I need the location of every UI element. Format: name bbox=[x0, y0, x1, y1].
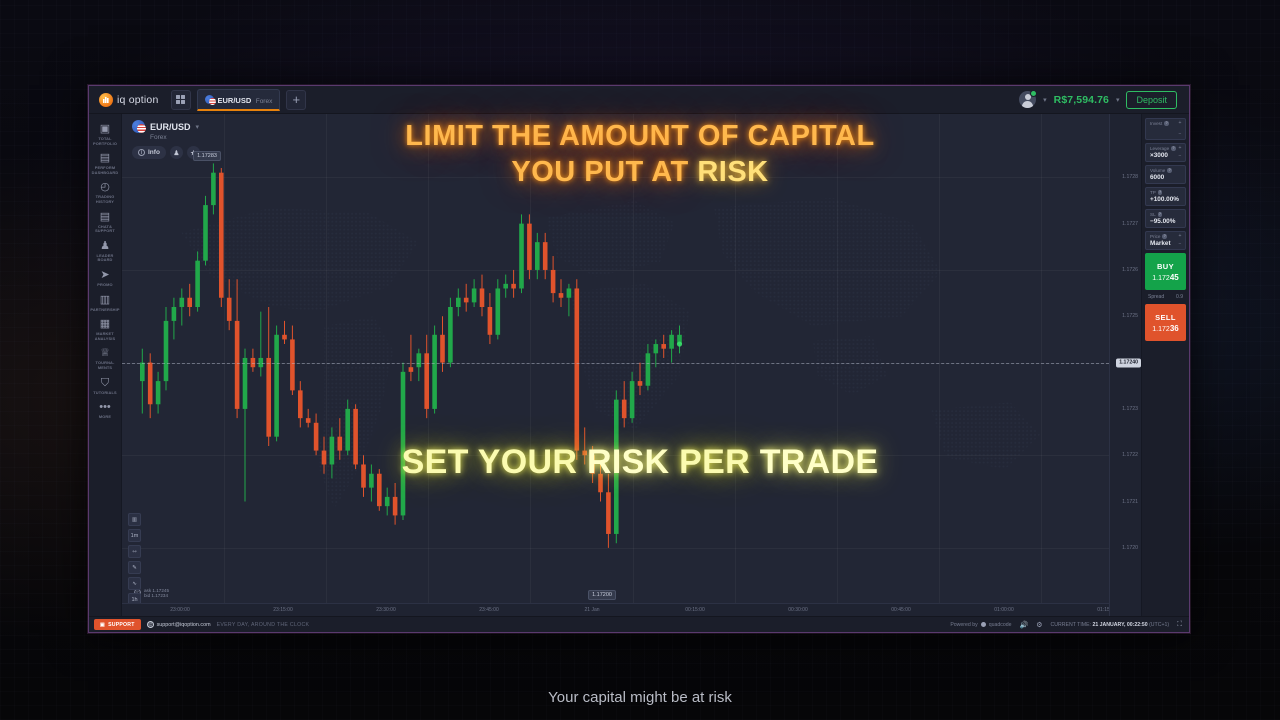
balance-amount[interactable]: R$7,594.76 bbox=[1054, 94, 1109, 106]
promo-icon: ➤ bbox=[100, 270, 109, 282]
sl-value: −95.00% bbox=[1150, 218, 1181, 225]
sidebar-item-label: PARTNERSHIP bbox=[90, 308, 121, 313]
sl-label: SL bbox=[1150, 212, 1156, 217]
avatar-chevron-down-icon[interactable]: ▾ bbox=[1043, 96, 1047, 104]
time-tick: 00:15:00 bbox=[685, 607, 704, 613]
low-price-label: 1.17200 bbox=[588, 590, 616, 600]
sidebar-item-9[interactable]: ⛉TUTORIALS bbox=[89, 374, 122, 399]
sidebar-item-label: LEADERBOARD bbox=[90, 254, 121, 263]
eurusd-flag-icon bbox=[205, 95, 214, 104]
sidebar-item-label: CHAT&SUPPORT bbox=[90, 225, 121, 234]
envelope-icon: @ bbox=[147, 621, 154, 628]
powered-by: Powered by quadcode bbox=[950, 622, 1011, 628]
sidebar-item-5[interactable]: ➤PROMO bbox=[89, 266, 122, 291]
quadcode-logo-icon bbox=[981, 622, 986, 627]
partnership-icon: ▥ bbox=[100, 295, 110, 307]
chart-tool-1m[interactable]: 1m bbox=[128, 529, 141, 542]
bid-value: bid 1.17234 bbox=[144, 593, 169, 598]
trade-panel: Invest ? +− Leverage ? ×3000 +− Volume ?… bbox=[1141, 114, 1189, 616]
chart-tool-crosshair-icon[interactable]: ⇿ bbox=[128, 545, 141, 558]
time-axis: 23:00:0023:15:0023:30:0023:45:0021 Jan00… bbox=[122, 603, 1109, 616]
help-icon[interactable]: ? bbox=[1167, 168, 1172, 173]
chart-area[interactable]: EUR/USD ▾ Forex i Info ♟ ★ bbox=[122, 114, 1109, 616]
volume-field: Volume ? 6000 bbox=[1145, 165, 1186, 184]
volume-value: 6000 bbox=[1150, 174, 1181, 181]
current-time-label: CURRENT TIME: bbox=[1051, 622, 1091, 628]
leverage-stepper[interactable]: +− bbox=[1177, 146, 1183, 159]
support-button[interactable]: ▣ SUPPORT bbox=[94, 619, 141, 630]
time-tick: 23:45:00 bbox=[479, 607, 498, 613]
price-crosshair-line bbox=[122, 363, 1109, 364]
tp-label: TP bbox=[1150, 190, 1156, 195]
sidebar-item-label: PERFORMDASHBOARD bbox=[90, 166, 121, 175]
time-tick: 23:00:00 bbox=[170, 607, 189, 613]
sidebar-item-1[interactable]: ▤PERFORMDASHBOARD bbox=[89, 149, 122, 178]
tab-title: EUR/USD bbox=[218, 96, 252, 105]
promo-page: iq option EUR/USD Forex + ▾ R$7,594.76 bbox=[0, 0, 1280, 720]
brand-logo[interactable]: iq option bbox=[95, 93, 165, 107]
analysis-icon: ▦ bbox=[100, 319, 110, 331]
spread-label: Spread bbox=[1148, 294, 1164, 300]
help-icon[interactable]: ? bbox=[1162, 234, 1167, 239]
tp-value: +100.00% bbox=[1150, 196, 1181, 203]
price-label: Price bbox=[1150, 234, 1160, 239]
sidebar-item-8[interactable]: ♕TOURNA-MENTS bbox=[89, 344, 122, 373]
sidebar-item-label: PROMO bbox=[90, 283, 121, 288]
volume-label: Volume bbox=[1150, 168, 1165, 173]
add-tab-button[interactable]: + bbox=[286, 90, 306, 110]
tab-eurusd[interactable]: EUR/USD Forex bbox=[197, 89, 281, 111]
app-footer: ▣ SUPPORT @ support@iqoption.com EVERY D… bbox=[89, 616, 1189, 632]
buy-label: BUY bbox=[1145, 262, 1186, 271]
time-tick: 00:30:00 bbox=[788, 607, 807, 613]
invest-field[interactable]: Invest ? +− bbox=[1145, 118, 1186, 140]
sidebar-item-10[interactable]: •••MORE bbox=[89, 398, 122, 423]
sidebar-item-label: MARKETANALYSIS bbox=[90, 332, 121, 341]
deposit-button[interactable]: Deposit bbox=[1126, 91, 1177, 109]
sidebar-item-0[interactable]: ▣TOTALPORTFOLIO bbox=[89, 120, 122, 149]
header-right: ▾ R$7,594.76 ▾ Deposit bbox=[1019, 91, 1183, 109]
balance-chevron-down-icon[interactable]: ▾ bbox=[1116, 96, 1120, 104]
time-tick: 00:45:00 bbox=[891, 607, 910, 613]
spread-value: 0.9 bbox=[1176, 294, 1183, 300]
price-tick: 1.1726 bbox=[1122, 267, 1138, 273]
time-tick: 21 Jan bbox=[584, 607, 599, 613]
time-tick: 23:30:00 bbox=[376, 607, 395, 613]
price-axis: 1.17281.17271.17261.17251.17231.17221.17… bbox=[1109, 114, 1141, 616]
sidebar-item-label: TUTORIALS bbox=[90, 391, 121, 396]
leaderboard-icon: ♟ bbox=[100, 241, 110, 253]
left-sidebar: ▣TOTALPORTFOLIO▤PERFORMDASHBOARD◴TRADING… bbox=[89, 114, 122, 616]
price-tick: 1.1723 bbox=[1122, 406, 1138, 412]
leverage-label: Leverage bbox=[1150, 146, 1169, 151]
time-tick: 23:15:00 bbox=[273, 607, 292, 613]
price-tick: 1.1728 bbox=[1122, 174, 1138, 180]
sidebar-item-7[interactable]: ▦MARKETANALYSIS bbox=[89, 315, 122, 344]
more-icon: ••• bbox=[99, 402, 111, 414]
sidebar-item-3[interactable]: ▤CHAT&SUPPORT bbox=[89, 208, 122, 237]
powered-by-brand: quadcode bbox=[989, 622, 1012, 628]
price-tick: 1.1725 bbox=[1122, 313, 1138, 319]
chart-tool-indicator-icon[interactable]: ∿ bbox=[128, 577, 141, 590]
help-icon[interactable]: ? bbox=[1164, 121, 1169, 126]
price-tick: 1.1727 bbox=[1122, 221, 1138, 227]
take-profit-field[interactable]: TP ? +100.00% bbox=[1145, 187, 1186, 206]
stop-loss-field[interactable]: SL ? −95.00% bbox=[1145, 209, 1186, 228]
sidebar-item-label: MORE bbox=[90, 415, 121, 420]
current-time: CURRENT TIME: 21 JANUARY, 00:22:50 (UTC+… bbox=[1051, 622, 1170, 628]
price-tick: 1.1722 bbox=[1122, 452, 1138, 458]
briefcase-icon: ▣ bbox=[100, 124, 110, 136]
sell-label: SELL bbox=[1145, 313, 1186, 322]
time-tick: 01:15:00 bbox=[1097, 607, 1109, 613]
app-body: ▣TOTALPORTFOLIO▤PERFORMDASHBOARD◴TRADING… bbox=[89, 114, 1189, 616]
support-hours: EVERY DAY, AROUND THE CLOCK bbox=[217, 622, 310, 628]
chart-tool-pencil-icon[interactable]: ✎ bbox=[128, 561, 141, 574]
risk-caption: Your capital might be at risk bbox=[0, 689, 1280, 706]
app-header: iq option EUR/USD Forex + ▾ R$7,594.76 bbox=[89, 86, 1189, 114]
current-price-tag: 1.17240 bbox=[1116, 358, 1141, 367]
sell-button[interactable]: SELL 1.17236 bbox=[1145, 304, 1186, 341]
buy-price: 1.17245 bbox=[1145, 273, 1186, 282]
time-tick: 01:00:00 bbox=[994, 607, 1013, 613]
chat-bubble-icon: ▣ bbox=[100, 622, 105, 628]
leverage-field[interactable]: Leverage ? ×3000 +− bbox=[1145, 143, 1186, 162]
spread-row: Spread 0.9 bbox=[1145, 293, 1186, 301]
chat-icon: ▤ bbox=[100, 212, 110, 224]
gear-icon[interactable]: ⚙ bbox=[1036, 621, 1042, 629]
graduation-icon: ⛉ bbox=[101, 378, 109, 390]
clock-icon: ◴ bbox=[100, 182, 110, 194]
candlestick-series bbox=[122, 114, 1109, 584]
powered-by-label: Powered by bbox=[950, 622, 977, 628]
grid-icon[interactable] bbox=[171, 90, 191, 110]
sidebar-item-label: TOURNA-MENTS bbox=[90, 361, 121, 370]
help-icon[interactable]: ? bbox=[1158, 212, 1163, 217]
invest-stepper[interactable]: +− bbox=[1177, 121, 1183, 137]
sidebar-item-2[interactable]: ◴TRADINGHISTORY bbox=[89, 178, 122, 207]
trophy-icon: ♕ bbox=[100, 348, 110, 360]
brand-name: iq option bbox=[117, 94, 159, 106]
high-price-label: 1.17283 bbox=[193, 151, 221, 161]
tab-subtitle: Forex bbox=[256, 98, 273, 105]
support-email[interactable]: @ support@iqoption.com bbox=[147, 621, 211, 628]
sell-price: 1.17236 bbox=[1145, 324, 1186, 333]
fullscreen-icon[interactable]: ⛶ bbox=[1177, 621, 1182, 629]
support-email-text: support@iqoption.com bbox=[157, 622, 211, 628]
price-tick: 1.1720 bbox=[1122, 545, 1138, 551]
invest-label: Invest bbox=[1150, 121, 1162, 126]
chart-tool-chart-type-icon[interactable]: ▥ bbox=[128, 513, 141, 526]
sidebar-item-label: TRADINGHISTORY bbox=[90, 195, 121, 204]
dashboard-icon: ▤ bbox=[100, 153, 110, 165]
speaker-icon[interactable]: 🔊 bbox=[1020, 621, 1029, 629]
help-icon[interactable]: ? bbox=[1158, 190, 1163, 195]
buy-button[interactable]: BUY 1.17245 bbox=[1145, 253, 1186, 290]
current-time-value: 21 JANUARY, 00:22:50 bbox=[1092, 622, 1147, 628]
help-icon[interactable]: ? bbox=[1171, 146, 1176, 151]
sidebar-item-6[interactable]: ▥PARTNERSHIP bbox=[89, 291, 122, 316]
trading-app-window: iq option EUR/USD Forex + ▾ R$7,594.76 bbox=[88, 85, 1190, 633]
price-stepper[interactable]: +− bbox=[1177, 234, 1183, 247]
support-label: SUPPORT bbox=[108, 622, 134, 628]
chart-tools-toolbar: ▥1m⇿✎∿1h bbox=[128, 513, 141, 606]
iq-option-logo-icon bbox=[99, 93, 113, 107]
sidebar-item-label: TOTALPORTFOLIO bbox=[90, 137, 121, 146]
current-time-tz: (UTC+1) bbox=[1149, 622, 1169, 628]
online-badge-icon bbox=[1030, 90, 1037, 97]
price-type-field[interactable]: Price ? Market +− bbox=[1145, 231, 1186, 250]
price-tick: 1.1721 bbox=[1122, 499, 1138, 505]
sidebar-item-4[interactable]: ♟LEADERBOARD bbox=[89, 237, 122, 266]
